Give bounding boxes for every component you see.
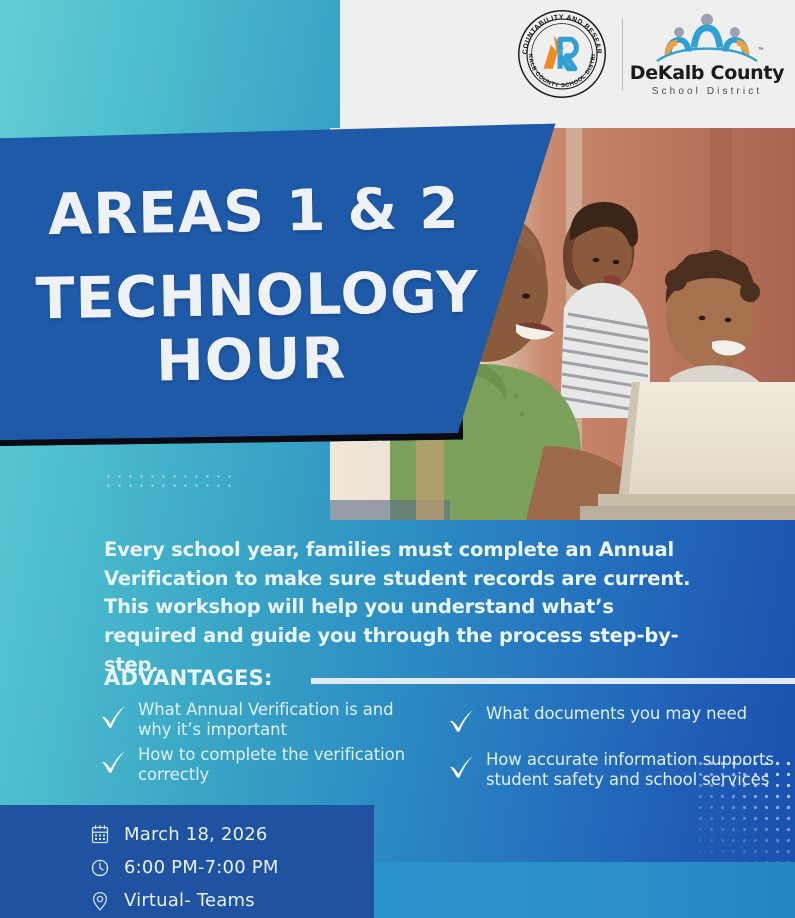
- check-icon: [446, 706, 476, 736]
- event-details: March 18, 2026 6:00 PM-7:00 PM: [90, 818, 390, 917]
- footer-band-light: [374, 862, 795, 918]
- list-item-label: How accurate information supports studen…: [486, 750, 776, 791]
- title-text-group: AREAS 1 & 2 TECHNOLOGY HOUR: [0, 124, 502, 440]
- flyer-canvas: ACCOUNTABILITY AND RESEARCH DEKALB COUNT…: [0, 0, 795, 918]
- title-line-2: TECHNOLOGY: [35, 263, 479, 328]
- check-icon: [98, 747, 128, 777]
- accountability-research-seal-icon: ACCOUNTABILITY AND RESEARCH DEKALB COUNT…: [516, 8, 608, 100]
- header-panel: ACCOUNTABILITY AND RESEARCH DEKALB COUNT…: [340, 0, 795, 128]
- advantages-column-right: What documents you may need How accurate…: [446, 700, 776, 805]
- advantages-columns: What Annual Verification is and why it’s…: [98, 700, 795, 805]
- location-pin-icon: [90, 890, 110, 912]
- list-item-label: What Annual Verification is and why it’s…: [138, 700, 428, 741]
- check-icon: [98, 702, 128, 732]
- detail-row-date: March 18, 2026: [90, 818, 390, 851]
- dot-grid-decoration-icon: [103, 472, 237, 488]
- advantages-heading: ADVANTAGES:: [104, 666, 273, 690]
- logo-divider: [622, 18, 623, 90]
- list-item-label: What documents you may need: [486, 704, 747, 724]
- title-line-3: HOUR: [156, 330, 347, 391]
- district-name: DeKalb County: [630, 64, 785, 83]
- district-subtitle: School District: [652, 86, 762, 97]
- title-line-1: AREAS 1 & 2: [48, 180, 461, 245]
- advantages-heading-row: ADVANTAGES:: [104, 665, 795, 691]
- dekalb-county-people-icon: ™: [648, 11, 766, 63]
- advantages-column-left: What Annual Verification is and why it’s…: [98, 700, 428, 805]
- detail-location-text: Virtual- Teams: [124, 890, 255, 911]
- detail-time-text: 6:00 PM-7:00 PM: [124, 857, 279, 878]
- intro-paragraph: Every school year, families must complet…: [104, 536, 712, 679]
- list-item: How accurate information supports studen…: [446, 750, 776, 791]
- clock-icon: [90, 857, 110, 879]
- dekalb-county-logo: ™ DeKalb County School District: [637, 11, 777, 97]
- check-icon: [446, 752, 476, 782]
- detail-date-text: March 18, 2026: [124, 824, 268, 845]
- list-item: What Annual Verification is and why it’s…: [98, 700, 428, 741]
- detail-row-time: 6:00 PM-7:00 PM: [90, 851, 390, 884]
- header-logos: ACCOUNTABILITY AND RESEARCH DEKALB COUNT…: [516, 8, 777, 100]
- advantages-divider-rule: [311, 678, 795, 684]
- detail-row-location: Virtual- Teams: [90, 884, 390, 917]
- list-item: How to complete the verification correct…: [98, 745, 428, 786]
- svg-text:™: ™: [758, 47, 764, 53]
- list-item: What documents you may need: [446, 704, 776, 736]
- calendar-icon: [90, 824, 110, 846]
- list-item-label: How to complete the verification correct…: [138, 745, 428, 786]
